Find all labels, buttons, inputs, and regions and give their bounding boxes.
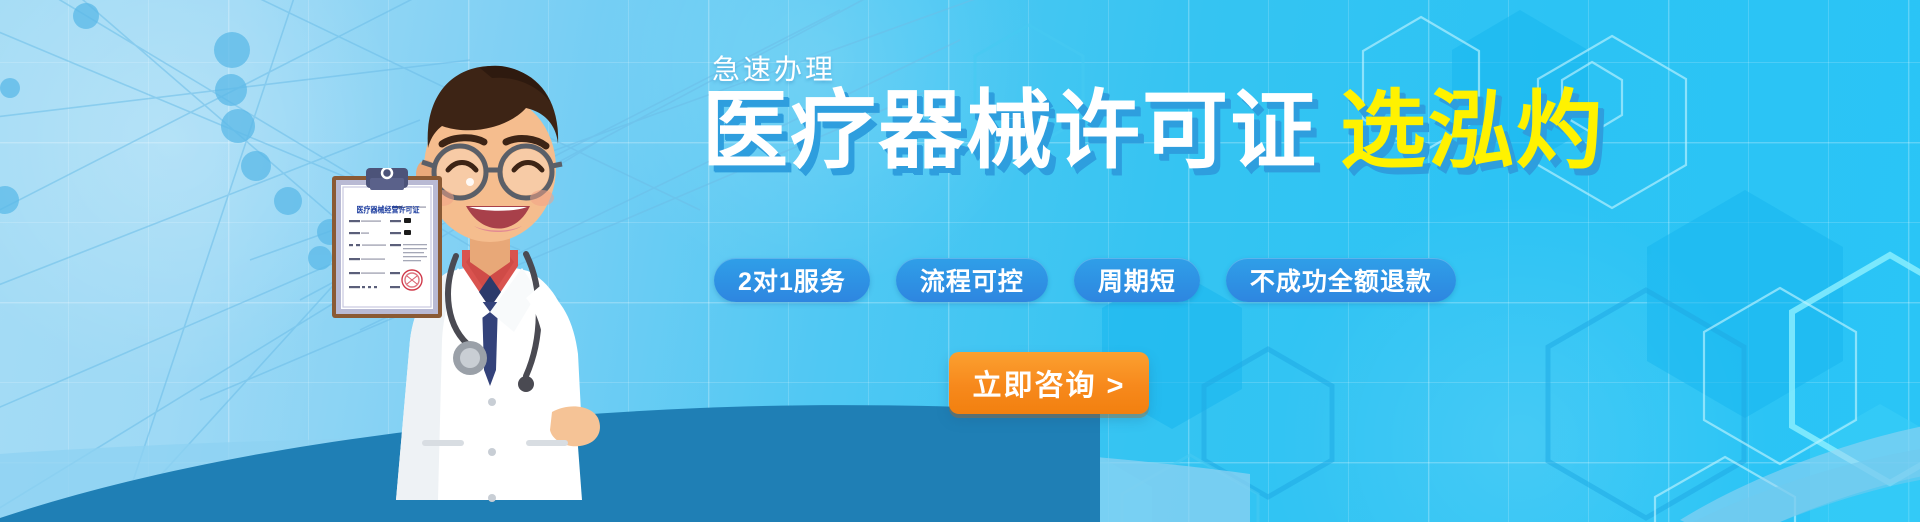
banner-content: 急速办理 医疗器械许可证 选泓灼 2对1服务 流程可控 周期短 不成功全额退款 … (0, 0, 1920, 522)
headline-accent-text: 选泓灼 (1340, 88, 1604, 174)
feature-pill-2[interactable]: 周期短 (1074, 258, 1200, 302)
feature-pill-0[interactable]: 2对1服务 (714, 258, 870, 302)
banner-headline: 医疗器械许可证 选泓灼 (702, 88, 1604, 174)
feature-pill-1[interactable]: 流程可控 (896, 258, 1048, 302)
consult-now-button[interactable]: 立即咨询 > (949, 352, 1149, 414)
headline-primary-text: 医疗器械许可证 (702, 88, 1318, 174)
feature-pill-list: 2对1服务 流程可控 周期短 不成功全额退款 (714, 258, 1456, 302)
promo-banner: 医疗器械经营许可证 急速办理 医疗器械许可证 选泓灼 2对1服务 流程可控 周期… (0, 0, 1920, 522)
feature-pill-3[interactable]: 不成功全额退款 (1226, 258, 1456, 302)
